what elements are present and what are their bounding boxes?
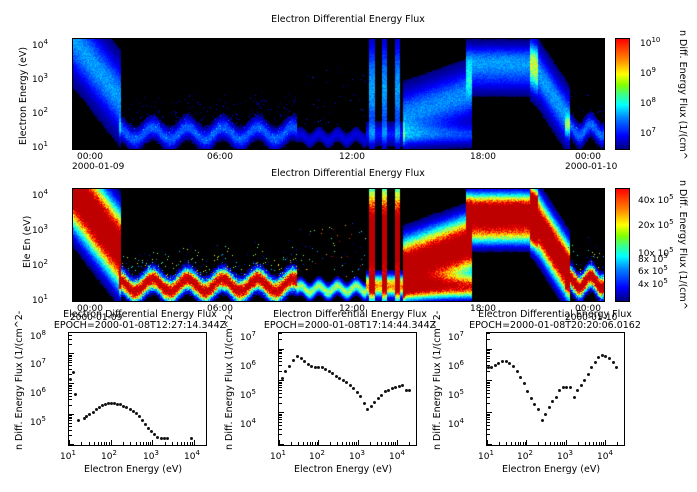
axis-tick: [89, 442, 90, 445]
sp1-ytick-5: 105: [30, 415, 46, 428]
axis-tick: [279, 361, 282, 362]
data-point: [373, 401, 376, 404]
axis-tick: [184, 442, 185, 445]
axis-tick: [601, 442, 602, 445]
axis-tick: [562, 442, 563, 445]
data-point: [359, 395, 362, 398]
axis-tick: [69, 405, 72, 406]
axis-tick: [511, 442, 512, 445]
sp2-xtick-1: 101: [270, 449, 286, 462]
data-point: [284, 370, 287, 373]
mid-ytick-4: 104: [32, 188, 48, 201]
spectrum-2-plot[interactable]: [278, 332, 417, 446]
top-panel-title: Electron Differential Energy Flux: [198, 14, 498, 25]
top-xdate-left: 2000-01-09: [72, 162, 124, 172]
axis-tick: [98, 442, 99, 445]
axis-tick: [487, 365, 490, 366]
axis-tick: [487, 356, 490, 357]
mid-ytick-1: 101: [32, 293, 48, 306]
axis-tick: [69, 388, 72, 389]
axis-tick: [526, 440, 527, 445]
axis-tick: [487, 417, 490, 418]
sp2-ytick-5: 105: [240, 388, 256, 401]
axis-tick: [515, 442, 516, 445]
axis-tick: [312, 442, 313, 445]
axis-tick: [279, 417, 282, 418]
axis-tick: [307, 442, 308, 445]
axis-tick: [69, 420, 72, 421]
axis-tick: [605, 440, 606, 445]
axis-tick: [593, 442, 594, 445]
spectrum-2-title: Electron Differential Energy Flux: [255, 309, 445, 320]
axis-tick: [298, 442, 299, 445]
axis-tick: [279, 434, 282, 435]
sp1-ytick-7: 107: [30, 357, 46, 370]
data-point: [555, 396, 558, 399]
spectrum-1-epoch: EPOCH=2000-01-08T12:27:14.344Z: [35, 320, 245, 331]
axis-tick: [487, 383, 490, 384]
axis-tick: [69, 393, 72, 394]
data-point: [608, 357, 611, 360]
axis-tick: [589, 442, 590, 445]
axis-tick: [560, 442, 561, 445]
axis-tick: [377, 442, 378, 445]
spectrum-1-xlabel: Electron Energy (eV): [84, 464, 182, 475]
axis-tick: [172, 442, 173, 445]
axis-tick: [487, 412, 492, 413]
data-point: [156, 436, 159, 439]
data-point: [401, 384, 404, 387]
data-point: [590, 366, 593, 369]
data-point: [562, 386, 565, 389]
data-point: [508, 362, 511, 365]
axis-tick: [354, 442, 355, 445]
spectrum-3-xlabel: Electron Energy (eV): [502, 464, 600, 475]
axis-tick: [279, 444, 284, 445]
data-point: [541, 419, 544, 422]
data-point: [380, 394, 383, 397]
sp2-xtick-2: 102: [309, 449, 325, 462]
axis-tick: [499, 442, 500, 445]
top-ytick-1: 101: [32, 140, 48, 153]
top-colorbar-label: n Diff. Energy Flux (1/(cm^: [677, 30, 688, 160]
axis-tick: [487, 425, 490, 426]
data-point: [147, 427, 150, 430]
axis-tick: [109, 442, 110, 445]
data-point: [352, 387, 355, 390]
axis-tick: [599, 442, 600, 445]
axis-tick: [506, 442, 507, 445]
axis-tick: [557, 442, 558, 445]
data-point: [138, 415, 141, 418]
axis-tick: [291, 442, 292, 445]
axis-tick: [69, 365, 72, 366]
axis-tick: [177, 442, 178, 445]
middle-colorbar-label: n Diff. Energy Flux (1/(cm^: [677, 180, 688, 310]
axis-tick: [279, 415, 282, 416]
sp3-ytick-5: 105: [448, 388, 464, 401]
axis-tick: [69, 385, 72, 386]
axis-tick: [487, 353, 490, 354]
axis-tick: [187, 442, 188, 445]
axis-tick: [150, 442, 151, 445]
axis-tick: [487, 390, 490, 391]
data-point: [144, 423, 147, 426]
middle-panel-title: Electron Differential Energy Flux: [198, 168, 498, 179]
data-point: [523, 382, 526, 385]
axis-tick: [624, 442, 625, 445]
data-point: [377, 397, 380, 400]
data-point: [533, 403, 536, 406]
axis-tick: [101, 442, 102, 445]
axis-tick: [416, 442, 417, 445]
data-point: [604, 355, 607, 358]
axis-tick: [104, 442, 105, 445]
axis-tick: [69, 356, 72, 357]
mid-cbar-tick-20: 20x 105: [638, 218, 674, 231]
data-point: [516, 370, 519, 373]
axis-tick: [487, 352, 490, 353]
axis-tick: [69, 414, 74, 415]
axis-tick: [130, 442, 131, 445]
axis-tick: [69, 426, 72, 427]
axis-tick: [487, 403, 490, 404]
data-point: [530, 397, 533, 400]
axis-tick: [279, 380, 284, 381]
axis-tick: [397, 440, 398, 445]
top-cbar-tick-9: 109: [640, 66, 656, 79]
sp1-ytick-6: 106: [30, 386, 46, 399]
sp1-xtick-4: 104: [184, 449, 200, 462]
mid-cbar-tick-4: 4x 105: [638, 277, 668, 290]
axis-tick: [69, 396, 72, 397]
spectrum-2-ylabel: n Diff. Energy Flux (1/(cm^2-: [224, 311, 235, 450]
axis-tick: [279, 356, 282, 357]
top-spectrogram-image[interactable]: [72, 38, 605, 150]
axis-tick: [69, 360, 72, 361]
spectrum-2-xlabel: Electron Energy (eV): [294, 464, 392, 475]
data-point: [292, 359, 295, 362]
axis-tick: [69, 344, 72, 345]
data-point: [331, 372, 334, 375]
axis-tick: [550, 442, 551, 445]
data-point: [370, 405, 373, 408]
axis-tick: [111, 440, 112, 445]
data-point: [281, 377, 284, 380]
axis-tick: [69, 423, 72, 424]
axis-tick: [279, 353, 282, 354]
axis-tick: [370, 442, 371, 445]
data-point: [615, 366, 618, 369]
spectrum-1-ylabel: n Diff. Energy Flux (1/(cm^2-: [14, 311, 25, 450]
axis-tick: [279, 383, 282, 384]
data-point: [544, 413, 547, 416]
axis-tick: [69, 335, 72, 336]
data-point: [594, 361, 597, 364]
data-point: [583, 379, 586, 382]
data-point: [569, 386, 572, 389]
data-point: [92, 411, 95, 414]
data-point: [74, 393, 77, 396]
data-point: [300, 357, 303, 360]
axis-tick: [69, 430, 72, 431]
axis-tick: [279, 352, 282, 353]
axis-tick: [596, 442, 597, 445]
top-ytick-3: 103: [32, 72, 48, 85]
top-panel-ylabel: Electron Energy (eV): [18, 47, 29, 145]
axis-tick: [617, 442, 618, 445]
top-xtick-0: 00:00: [77, 152, 103, 162]
axis-tick: [487, 380, 492, 381]
sp2-ytick-4: 104: [240, 417, 256, 430]
data-point: [317, 366, 320, 369]
data-point: [321, 366, 324, 369]
sp1-xtick-3: 103: [143, 449, 159, 462]
data-point: [597, 356, 600, 359]
axis-tick: [315, 442, 316, 445]
axis-tick: [106, 442, 107, 445]
data-point: [537, 408, 540, 411]
axis-tick: [538, 442, 539, 445]
top-xtick-4: 00:00: [575, 152, 601, 162]
data-point: [345, 381, 348, 384]
axis-tick: [123, 442, 124, 445]
data-point: [558, 389, 561, 392]
sp3-xtick-3: 103: [557, 449, 573, 462]
sp2-ytick-7: 107: [240, 330, 256, 343]
sp3-ytick-7: 107: [448, 330, 464, 343]
axis-tick: [69, 444, 74, 445]
data-point: [324, 368, 327, 371]
axis-tick: [152, 440, 153, 445]
top-xtick-3: 18:00: [470, 152, 496, 162]
data-point: [166, 437, 169, 440]
axis-tick: [279, 349, 284, 350]
axis-tick: [279, 393, 282, 394]
axis-tick: [192, 442, 193, 445]
axis-tick: [279, 387, 282, 388]
axis-tick: [487, 387, 490, 388]
data-point: [69, 378, 72, 381]
axis-tick: [487, 349, 492, 350]
sp2-ytick-6: 106: [240, 359, 256, 372]
sp2-xtick-4: 104: [389, 449, 405, 462]
data-point: [501, 360, 504, 363]
axis-tick: [279, 371, 282, 372]
data-point: [548, 406, 551, 409]
axis-tick: [279, 425, 282, 426]
axis-tick: [69, 415, 72, 416]
axis-tick: [385, 442, 386, 445]
sp3-ytick-4: 104: [448, 417, 464, 430]
axis-tick: [143, 442, 144, 445]
data-point: [77, 419, 80, 422]
axis-tick: [69, 353, 74, 354]
data-point: [612, 361, 615, 364]
axis-tick: [69, 355, 72, 356]
axis-tick: [330, 442, 331, 445]
data-point: [497, 362, 500, 365]
axis-tick: [523, 442, 524, 445]
axis-tick: [279, 390, 282, 391]
sp2-xtick-3: 103: [349, 449, 365, 462]
axis-tick: [585, 442, 586, 445]
axis-tick: [487, 419, 490, 420]
axis-tick: [279, 419, 282, 420]
data-point: [387, 389, 390, 392]
sp3-ytick-6: 106: [448, 359, 464, 372]
axis-tick: [69, 358, 72, 359]
axis-tick: [69, 374, 72, 375]
data-point: [303, 360, 306, 363]
axis-tick: [487, 422, 490, 423]
axis-tick: [69, 369, 72, 370]
data-point: [494, 364, 497, 367]
axis-tick: [69, 390, 72, 391]
axis-tick: [148, 442, 149, 445]
axis-tick: [310, 442, 311, 445]
top-xtick-2: 12:00: [339, 152, 365, 162]
axis-tick: [194, 440, 195, 445]
middle-spectrogram-image[interactable]: [72, 188, 605, 302]
data-point: [338, 377, 341, 380]
axis-tick: [69, 399, 72, 400]
spectrum-3-ylabel: n Diff. Energy Flux (1/(cm^2-: [432, 311, 443, 450]
axis-tick: [279, 382, 282, 383]
axis-tick: [487, 393, 490, 394]
axis-tick: [181, 442, 182, 445]
axis-tick: [279, 397, 282, 398]
axis-tick: [487, 350, 490, 351]
axis-tick: [578, 442, 579, 445]
data-point: [526, 390, 529, 393]
axis-tick: [487, 415, 490, 416]
top-ytick-2: 102: [32, 106, 48, 119]
axis-tick: [69, 362, 72, 363]
axis-tick: [136, 442, 137, 445]
axis-tick: [393, 442, 394, 445]
axis-tick: [554, 442, 555, 445]
spectrum-3-title: Electron Differential Energy Flux: [460, 309, 650, 320]
axis-tick: [487, 382, 490, 383]
axis-tick: [303, 442, 304, 445]
spectrum-3-plot[interactable]: [486, 332, 625, 446]
mid-ytick-3: 103: [32, 223, 48, 236]
sp1-ytick-8: 108: [30, 329, 46, 342]
axis-tick: [566, 440, 567, 445]
axis-tick: [190, 442, 191, 445]
axis-tick: [349, 442, 350, 445]
axis-tick: [279, 358, 282, 359]
data-point: [356, 391, 359, 394]
axis-tick: [140, 442, 141, 445]
data-point: [88, 413, 91, 416]
axis-tick: [279, 422, 282, 423]
data-point: [366, 408, 369, 411]
axis-tick: [545, 442, 546, 445]
sp1-xtick-1: 101: [60, 449, 76, 462]
axis-tick: [487, 414, 490, 415]
axis-tick: [391, 442, 392, 445]
data-point: [587, 373, 590, 376]
mid-cbar-tick-6: 6x 105: [638, 264, 668, 277]
data-point: [490, 366, 493, 369]
data-point: [95, 408, 98, 411]
axis-tick: [487, 371, 490, 372]
axis-tick: [69, 435, 72, 436]
mid-cbar-tick-40: 40x 105: [638, 193, 674, 206]
top-ytick-4: 104: [32, 38, 48, 51]
top-cbar-tick-10: 1010: [640, 36, 660, 49]
axis-tick: [69, 386, 72, 387]
axis-tick: [279, 412, 284, 413]
axis-tick: [518, 442, 519, 445]
axis-tick: [487, 333, 490, 334]
axis-tick: [487, 429, 490, 430]
axis-tick: [69, 417, 72, 418]
data-point: [551, 400, 554, 403]
spectrum-1-title: Electron Differential Energy Flux: [45, 309, 235, 320]
axis-tick: [279, 350, 282, 351]
axis-tick: [409, 442, 410, 445]
axis-tick: [279, 429, 282, 430]
spectrum-2-epoch: EPOCH=2000-01-08T17:14:44.344Z: [245, 320, 455, 331]
top-xtick-1: 06:00: [207, 152, 233, 162]
axis-tick: [487, 434, 490, 435]
sp3-xtick-2: 102: [517, 449, 533, 462]
axis-tick: [69, 339, 72, 340]
data-point: [573, 396, 576, 399]
mid-ytick-2: 102: [32, 258, 48, 271]
axis-tick: [381, 442, 382, 445]
axis-tick: [487, 385, 490, 386]
data-point: [288, 365, 291, 368]
data-point: [408, 389, 411, 392]
sp3-xtick-4: 104: [597, 449, 613, 462]
data-point: [576, 389, 579, 392]
data-point: [141, 419, 144, 422]
axis-tick: [279, 339, 282, 340]
spectrum-1-plot[interactable]: [68, 332, 207, 446]
middle-colorbar: [615, 188, 630, 302]
data-point: [512, 365, 515, 368]
axis-tick: [346, 442, 347, 445]
axis-tick: [279, 414, 282, 415]
top-cbar-tick-7: 107: [640, 126, 656, 139]
data-point: [363, 402, 366, 405]
axis-tick: [69, 332, 72, 333]
axis-tick: [358, 440, 359, 445]
axis-tick: [94, 442, 95, 445]
axis-tick: [81, 442, 82, 445]
axis-tick: [487, 339, 490, 340]
axis-tick: [352, 442, 353, 445]
spectrum-3-epoch: EPOCH=2000-01-08T20:20:06.0162: [450, 320, 660, 331]
axis-tick: [69, 418, 72, 419]
axis-tick: [279, 403, 282, 404]
data-point: [98, 406, 101, 409]
data-point: [519, 376, 522, 379]
axis-tick: [487, 444, 492, 445]
axis-tick: [520, 442, 521, 445]
data-point: [394, 386, 397, 389]
axis-tick: [487, 358, 490, 359]
axis-tick: [279, 365, 282, 366]
axis-tick: [342, 442, 343, 445]
axis-tick: [318, 440, 319, 445]
axis-tick: [487, 397, 490, 398]
data-point: [580, 384, 583, 387]
